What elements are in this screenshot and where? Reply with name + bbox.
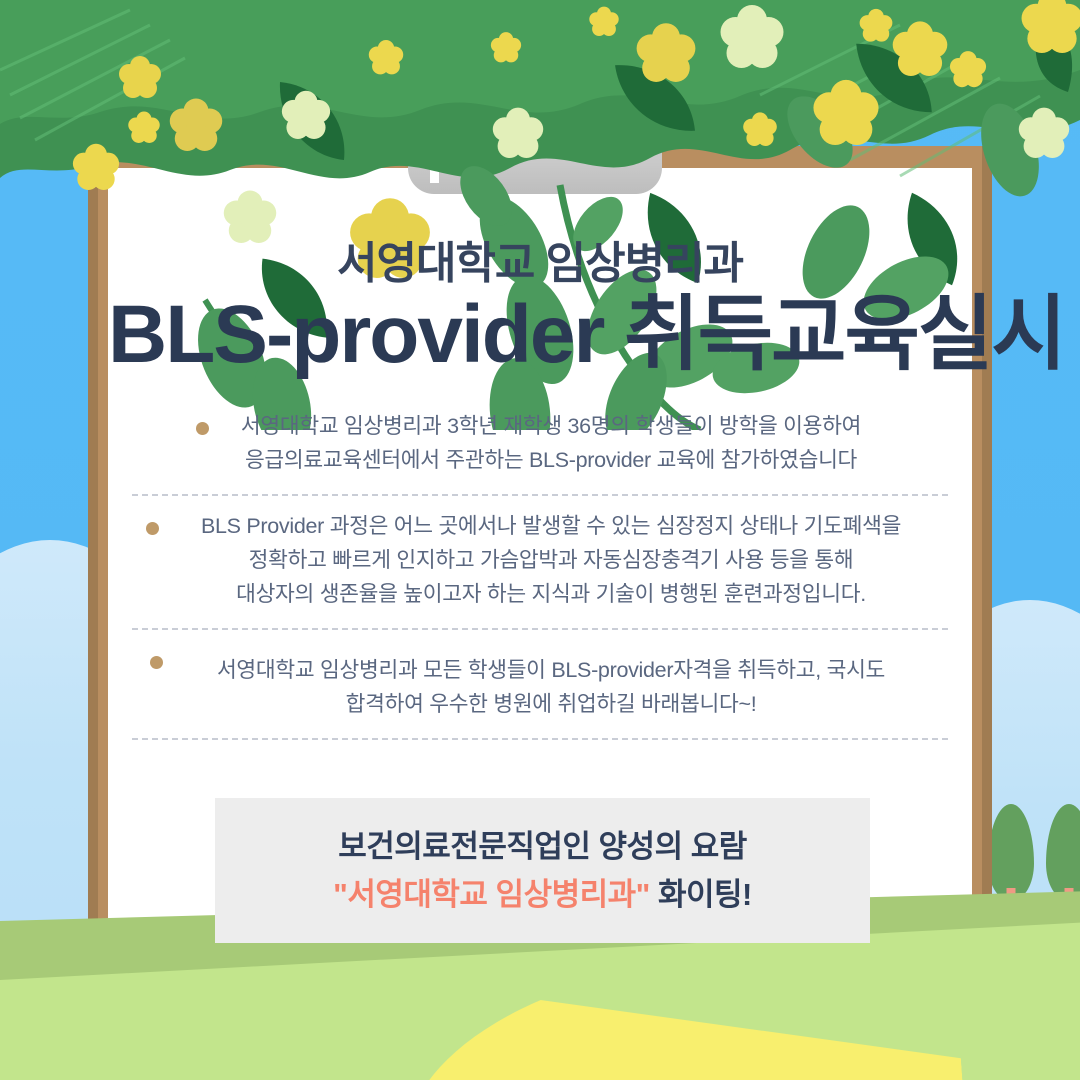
- list-item-line: 서영대학교 임상병리과 3학년 재학생 36명의 학생들이 방학을 이용하여: [164, 410, 938, 444]
- bullet-list: 서영대학교 임상병리과 3학년 재학생 36명의 학생들이 방학을 이용하여 응…: [108, 410, 972, 740]
- list-item-text: BLS Provider 과정은 어느 곳에서나 발생할 수 있는 심장정지 상…: [146, 510, 956, 612]
- list-item: 서영대학교 임상병리과 모든 학생들이 BLS-provider자격을 취득하고…: [124, 644, 956, 722]
- list-item-text: 서영대학교 임상병리과 3학년 재학생 36명의 학생들이 방학을 이용하여 응…: [146, 410, 956, 478]
- list-item: BLS Provider 과정은 어느 곳에서나 발생할 수 있는 심장정지 상…: [124, 510, 956, 612]
- list-item-line: 합격하여 우수한 병원에 취업하길 바래봅니다~!: [164, 688, 938, 722]
- slogan-line-2: "서영대학교 임상병리과" 화이팅!: [333, 874, 752, 916]
- slogan-department-name: 서영대학교 임상병리과: [347, 877, 635, 912]
- slogan-quote-close: ": [636, 877, 650, 912]
- divider: [132, 494, 948, 496]
- slogan-tail: 화이팅!: [650, 877, 752, 912]
- page-subtitle: 서영대학교 임상병리과: [108, 240, 972, 288]
- list-item: 서영대학교 임상병리과 3학년 재학생 36명의 학생들이 방학을 이용하여 응…: [124, 410, 956, 478]
- divider: [132, 628, 948, 630]
- list-item-line: 정확하고 빠르게 인지하고 가슴압박과 자동심장충격기 사용 등을 통해: [164, 544, 938, 578]
- list-item-line: 대상자의 생존율을 높이고자 하는 지식과 기술이 병행된 훈련과정입니다.: [164, 578, 938, 612]
- list-item-line: BLS Provider 과정은 어느 곳에서나 발생할 수 있는 심장정지 상…: [164, 510, 938, 544]
- divider: [132, 738, 948, 740]
- page-title: BLS-provider 취득교육실시: [108, 292, 972, 378]
- slogan-box: 보건의료전문직업인 양성의 요람 "서영대학교 임상병리과" 화이팅!: [215, 798, 870, 943]
- list-item-text: 서영대학교 임상병리과 모든 학생들이 BLS-provider자격을 취득하고…: [146, 654, 956, 722]
- list-item-line: 서영대학교 임상병리과 모든 학생들이 BLS-provider자격을 취득하고…: [164, 654, 938, 688]
- poster-content: 서영대학교 임상병리과 BLS-provider 취득교육실시 서영대학교 임상…: [108, 168, 972, 1048]
- poster-root: 서영대학교 임상병리과 BLS-provider 취득교육실시 서영대학교 임상…: [0, 0, 1080, 1080]
- slogan-line-1: 보건의료전문직업인 양성의 요람: [338, 826, 747, 868]
- title-block: 서영대학교 임상병리과 BLS-provider 취득교육실시: [108, 168, 972, 378]
- list-item-line: 응급의료교육센터에서 주관하는 BLS-provider 교육에 참가하였습니다: [164, 444, 938, 478]
- slogan-quote-open: ": [333, 877, 347, 912]
